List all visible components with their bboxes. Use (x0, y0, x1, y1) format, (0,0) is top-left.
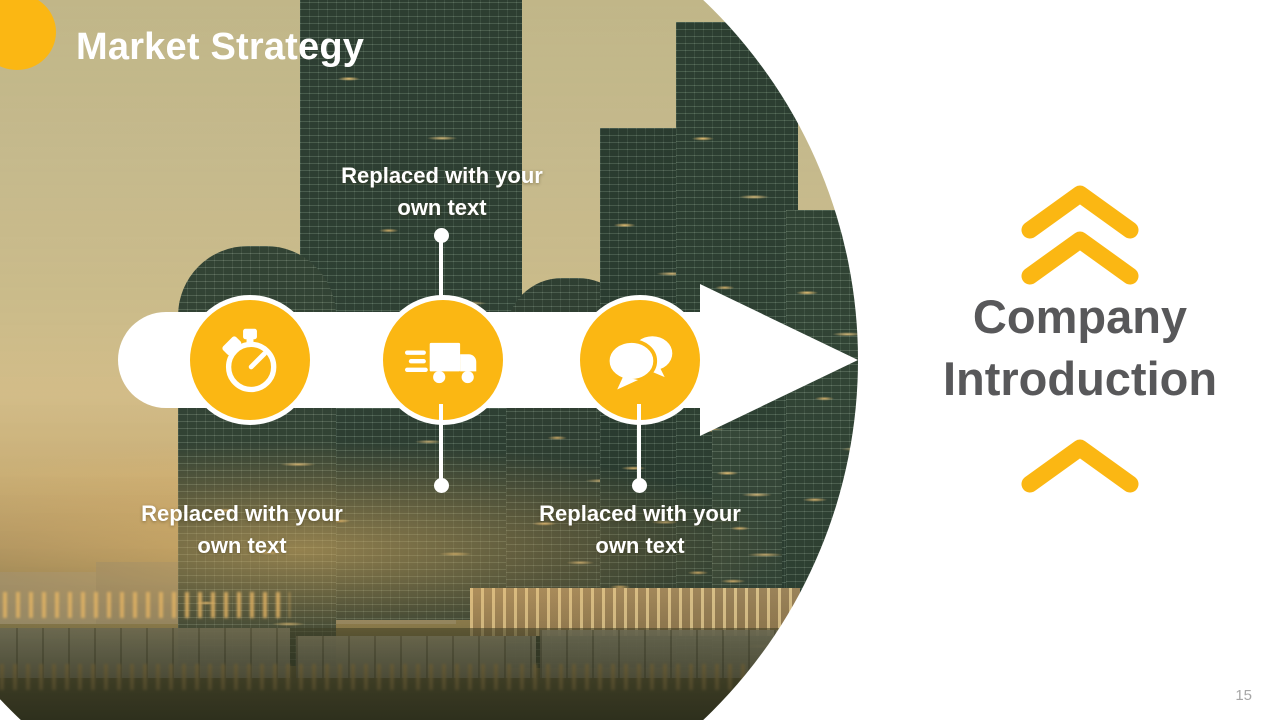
node-label-3-line1: Replaced with your (539, 501, 741, 526)
node-label-1-line1: Replaced with your (341, 163, 543, 188)
chevron-group-bottom (880, 436, 1280, 494)
stopwatch-icon (213, 323, 287, 397)
chevron-up-icon (1020, 436, 1140, 494)
slide-canvas: Market Strategy Replaced with your own t… (0, 0, 1280, 720)
right-heading-line2: Introduction (880, 348, 1280, 410)
connector-dot-3 (632, 478, 647, 493)
node-label-3: Replaced with your own text (510, 498, 770, 562)
page-title: Market Strategy (76, 26, 364, 69)
delivery-truck-icon (405, 330, 481, 390)
page-number: 15 (1235, 687, 1252, 704)
process-node-1[interactable] (185, 295, 315, 425)
connector-line-3 (637, 404, 641, 482)
chevron-up-icon (1020, 228, 1140, 286)
right-heading-line1: Company (880, 286, 1280, 348)
node-label-2-line2: own text (197, 533, 286, 558)
process-arrow-head (700, 284, 858, 436)
chevron-group-top (880, 182, 1280, 286)
process-node-2[interactable] (378, 295, 508, 425)
node-label-2: Replaced with your own text (112, 498, 372, 562)
node-label-1-line2: own text (397, 195, 486, 220)
node-label-3-line2: own text (595, 533, 684, 558)
node-label-1: Replaced with your own text (312, 160, 572, 224)
chat-bubbles-icon (602, 329, 678, 391)
connector-dot-2 (434, 478, 449, 493)
node-label-2-line1: Replaced with your (141, 501, 343, 526)
right-panel: Company Introduction (880, 0, 1280, 720)
right-panel-heading: Company Introduction (880, 286, 1280, 410)
connector-line-2 (439, 404, 443, 482)
